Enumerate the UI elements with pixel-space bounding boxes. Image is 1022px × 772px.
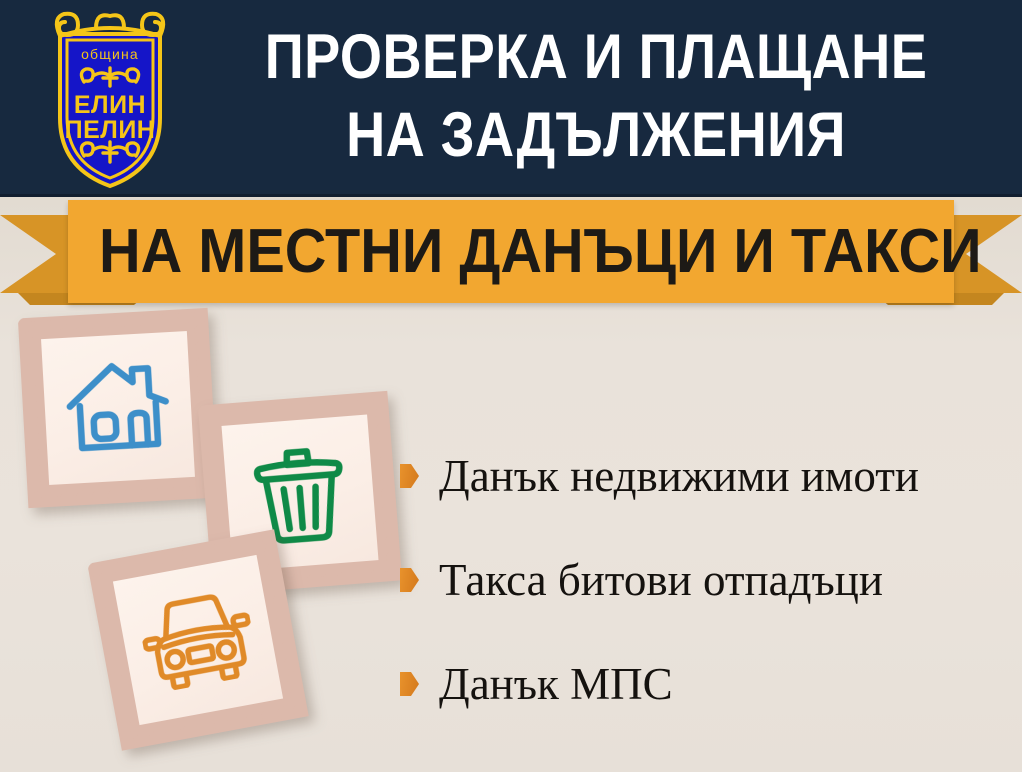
list-item: Данък МПС xyxy=(400,632,1010,736)
arrow-bullet-icon xyxy=(400,672,419,696)
list-item: Такса битови отпадъци xyxy=(400,528,1010,632)
municipality-logo: община ЕЛИН ПЕЛИН xyxy=(34,6,186,192)
list-item-label: Такса битови отпадъци xyxy=(439,556,883,604)
poster-title: ПРОВЕРКА И ПЛАЩАНЕ НА ЗАДЪЛЖЕНИЯ xyxy=(186,18,1006,174)
tax-type-list: Данък недвижими имоти Такса битови отпад… xyxy=(400,424,1010,736)
subtitle-ribbon: НА МЕСТНИ ДАНЪЦИ И ТАКСИ xyxy=(0,197,1022,317)
stamp-card-vehicle xyxy=(87,529,308,750)
list-item-label: Данък МПС xyxy=(439,660,673,708)
svg-text:община: община xyxy=(81,46,139,62)
svg-text:ЕЛИН: ЕЛИН xyxy=(74,91,146,119)
title-line-2: НА ЗАДЪЛЖЕНИЯ xyxy=(243,96,948,174)
svg-text:ПЕЛИН: ПЕЛИН xyxy=(65,116,156,144)
car-front-icon xyxy=(113,555,283,725)
list-item: Данък недвижими имоти xyxy=(400,424,1010,528)
list-item-label: Данък недвижими имоти xyxy=(439,452,919,500)
arrow-bullet-icon xyxy=(400,568,419,592)
house-icon xyxy=(41,331,195,485)
ribbon-band: НА МЕСТНИ ДАНЪЦИ И ТАКСИ xyxy=(68,200,954,303)
ribbon-label: НА МЕСТНИ ДАНЪЦИ И ТАКСИ xyxy=(99,219,923,285)
title-line-1: ПРОВЕРКА И ПЛАЩАНЕ xyxy=(243,18,948,96)
poster-canvas: община ЕЛИН ПЕЛИН ПРОВЕРКА И ПЛАЩАНЕ НА … xyxy=(0,0,1022,772)
stamp-card-property xyxy=(18,308,218,508)
coat-of-arms-icon: община ЕЛИН ПЕЛИН xyxy=(34,6,186,192)
arrow-bullet-icon xyxy=(400,464,419,488)
